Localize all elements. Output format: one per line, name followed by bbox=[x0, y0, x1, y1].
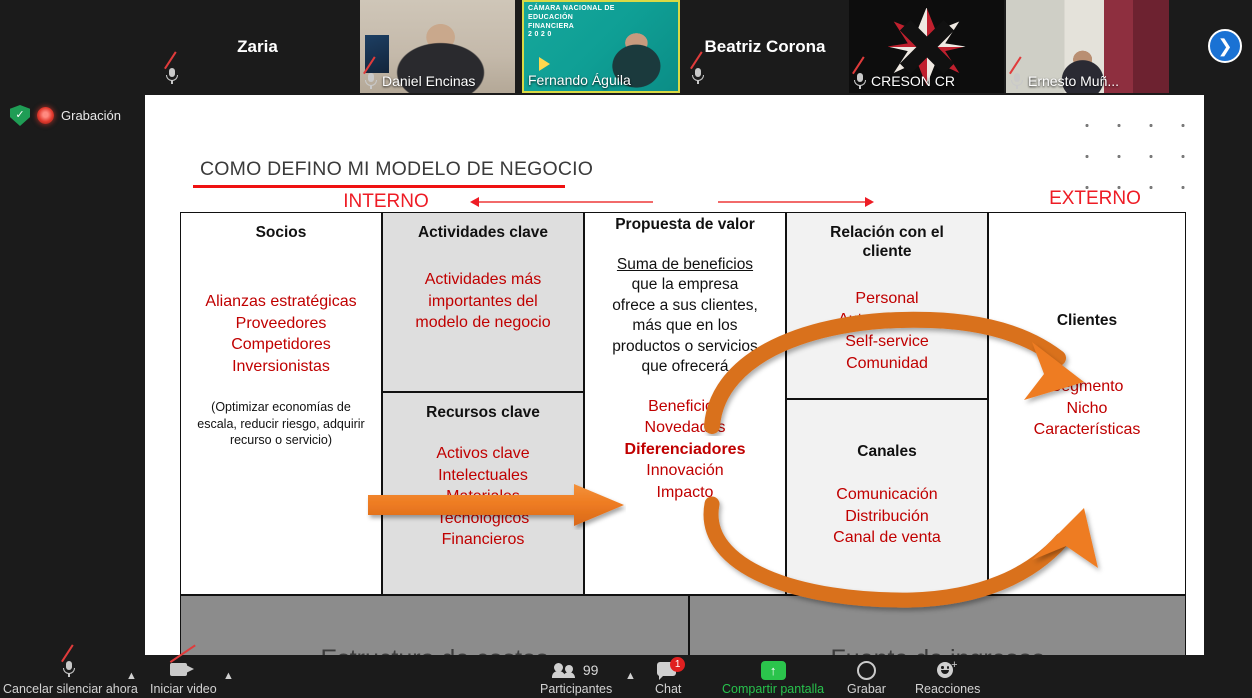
recording-sidebar: ✓ Grabación bbox=[0, 95, 145, 655]
clientes-item-1: Nicho bbox=[1034, 398, 1141, 420]
toolbar-participants-label: Participantes bbox=[540, 682, 612, 696]
cell-heading-propuesta-de-valor: Propuesta de valor bbox=[615, 216, 755, 235]
arrow-left-icon bbox=[478, 201, 653, 203]
clientes-item-2: Características bbox=[1034, 419, 1141, 441]
canvas-cell-recursos-clave[interactable]: Recursos clave Activos clave Intelectual… bbox=[382, 392, 584, 595]
participants-options-caret-icon[interactable]: ▲ bbox=[625, 670, 636, 682]
actividades-item-0: Actividades más bbox=[415, 269, 550, 291]
propuesta-item-0: Beneficios bbox=[625, 396, 746, 418]
participant-tile-ernesto-munoz[interactable]: Ernesto Muñ... bbox=[1006, 0, 1169, 93]
triangle-icon bbox=[539, 57, 550, 71]
canvas-cell-estructura-de-costos[interactable]: Estructura de costos bbox=[180, 595, 689, 655]
shared-screen-slide[interactable]: COMO DEFINO MI MODELO DE NEGOCIO INTERNO… bbox=[145, 95, 1204, 655]
canvas-cell-propuesta-de-valor[interactable]: Propuesta de valor Suma de beneficios qu… bbox=[584, 212, 786, 595]
zoom-meeting-window: Zaria Daniel Encinas CÁMARA NACIONAL DEE… bbox=[0, 0, 1252, 698]
chat-bubble-icon: 1 bbox=[657, 662, 679, 679]
propuesta-definition-underlined: Suma de beneficios bbox=[612, 255, 758, 275]
axis-label-interno: INTERNO bbox=[321, 191, 451, 213]
socios-item-2: Competidores bbox=[205, 334, 356, 356]
participant-nameplate: Daniel Encinas bbox=[360, 71, 481, 93]
recursos-item-3: Tecnológicos bbox=[436, 508, 529, 530]
canales-item-1: Distribución bbox=[833, 506, 941, 528]
propuesta-definition-3: más que en los bbox=[612, 316, 758, 336]
participant-name-fernando-aguila: Fernando Águila bbox=[528, 72, 631, 88]
canvas-cell-actividades-clave[interactable]: Actividades clave Actividades más import… bbox=[382, 212, 584, 392]
recording-indicator[interactable]: ✓ Grabación bbox=[0, 95, 145, 126]
canales-item-0: Comunicación bbox=[833, 484, 941, 506]
smiley-plus-icon: + bbox=[937, 660, 958, 680]
toolbar-reactions-label: Reacciones bbox=[915, 682, 980, 696]
toolbar-share-screen-button[interactable]: ↑ Compartir pantalla bbox=[722, 660, 824, 696]
mic-muted-icon bbox=[364, 72, 378, 90]
toolbar-record-label: Grabar bbox=[847, 682, 886, 696]
mic-muted-icon bbox=[691, 67, 705, 90]
cell-heading-clientes: Clientes bbox=[1057, 312, 1117, 331]
participant-name-zaria: Zaria bbox=[160, 37, 355, 57]
toolbar-chat-label: Chat bbox=[655, 682, 681, 696]
socios-note: (Optimizar economías de escala, reducir … bbox=[193, 399, 369, 448]
participants-count: 99 bbox=[583, 662, 599, 678]
mic-muted-icon bbox=[1010, 72, 1024, 90]
shield-check-icon: ✓ bbox=[10, 105, 30, 126]
actividades-item-1: importantes del bbox=[415, 291, 550, 313]
recursos-item-2: Materiales bbox=[436, 486, 529, 508]
socios-item-3: Inversionistas bbox=[205, 356, 356, 378]
shared-slide-header-text: CÁMARA NACIONAL DEEDUCACIÓNFINANCIERA2 0… bbox=[528, 5, 674, 40]
arrow-right-icon bbox=[718, 201, 866, 203]
meeting-toolbar: Cancelar silenciar ahora ▲ Iniciar video… bbox=[0, 655, 1252, 698]
mic-muted-icon bbox=[165, 67, 179, 90]
actividades-item-2: modelo de negocio bbox=[415, 312, 550, 334]
mute-options-caret-icon[interactable]: ▲ bbox=[126, 670, 137, 682]
propuesta-item-2: Diferenciadores bbox=[625, 439, 746, 461]
toolbar-mute-button[interactable]: Cancelar silenciar ahora bbox=[3, 660, 138, 696]
propuesta-item-4: Impacto bbox=[625, 482, 746, 504]
relacion-item-1: Automatizado bbox=[838, 309, 936, 331]
relacion-item-0: Personal bbox=[838, 288, 936, 310]
recursos-item-1: Intelectuales bbox=[436, 465, 529, 487]
propuesta-definition-2: ofrece a sus clientes, bbox=[612, 296, 758, 316]
participant-name-creson-cr: CRESON CR bbox=[871, 73, 955, 89]
participant-name-daniel-encinas: Daniel Encinas bbox=[382, 73, 475, 89]
participant-nameplate: Ernesto Muñ... bbox=[1006, 71, 1125, 93]
participant-tile-daniel-encinas[interactable]: Daniel Encinas bbox=[360, 0, 515, 93]
participant-name-ernesto-munoz: Ernesto Muñ... bbox=[1028, 73, 1119, 89]
participant-nameplate: Fernando Águila bbox=[524, 71, 637, 91]
socios-item-0: Alianzas estratégicas bbox=[205, 291, 356, 313]
toolbar-chat-button[interactable]: 1 Chat bbox=[655, 660, 681, 696]
toolbar-share-label: Compartir pantalla bbox=[722, 682, 824, 696]
propuesta-definition-5: que ofrecerá bbox=[612, 357, 758, 377]
people-icon bbox=[554, 663, 578, 678]
next-page-button[interactable]: ❯ bbox=[1208, 29, 1242, 63]
canvas-cell-relacion-con-el-cliente[interactable]: Relación con el cliente Personal Automat… bbox=[786, 212, 988, 399]
camera-off-icon bbox=[170, 660, 196, 680]
clientes-item-0: Segmento bbox=[1034, 376, 1141, 398]
cell-heading-estructura-de-costos: Estructura de costos bbox=[321, 645, 549, 655]
participant-tile-fernando-aguila[interactable]: CÁMARA NACIONAL DEEDUCACIÓNFINANCIERA2 0… bbox=[522, 0, 680, 93]
chevron-right-icon: ❯ bbox=[1217, 37, 1232, 55]
slide-title: COMO DEFINO MI MODELO DE NEGOCIO bbox=[200, 158, 593, 181]
cell-heading-socios: Socios bbox=[256, 224, 307, 243]
recursos-item-0: Activos clave bbox=[436, 443, 529, 465]
mic-muted-icon bbox=[853, 72, 867, 90]
cell-heading-recursos-clave: Recursos clave bbox=[426, 404, 540, 423]
canvas-cell-socios[interactable]: Socios Alianzas estratégicas Proveedores… bbox=[180, 212, 382, 595]
socios-item-1: Proveedores bbox=[205, 313, 356, 335]
participants-icon-group: 99 bbox=[554, 660, 599, 680]
cell-heading-canales: Canales bbox=[857, 443, 916, 462]
toolbar-reactions-button[interactable]: + Reacciones bbox=[915, 660, 980, 696]
propuesta-definition-4: productos o servicios bbox=[612, 337, 758, 357]
share-screen-up-arrow-icon: ↑ bbox=[761, 660, 786, 680]
participant-tile-zaria[interactable]: Zaria bbox=[160, 0, 355, 93]
toolbar-participants-button[interactable]: 99 Participantes bbox=[540, 660, 612, 696]
relacion-item-2: Self-service bbox=[838, 331, 936, 353]
recursos-item-4: Financieros bbox=[436, 529, 529, 551]
canvas-cell-canales[interactable]: Canales Comunicación Distribución Canal … bbox=[786, 399, 988, 595]
participant-name-beatriz-corona: Beatriz Corona bbox=[686, 37, 844, 57]
recording-label: Grabación bbox=[61, 108, 121, 123]
toolbar-video-button[interactable]: Iniciar video bbox=[150, 660, 217, 696]
record-circle-icon bbox=[857, 660, 876, 680]
slide-right-gutter bbox=[1204, 95, 1252, 655]
business-model-canvas: Socios Alianzas estratégicas Proveedores… bbox=[180, 212, 1186, 595]
cell-heading-actividades-clave: Actividades clave bbox=[418, 224, 548, 243]
cell-heading-fuente-de-ingresos: Fuente de ingresos bbox=[830, 645, 1044, 655]
cell-heading-relacion-con-el-cliente: Relación con el cliente bbox=[807, 224, 967, 262]
canvas-cell-clientes[interactable]: Clientes Segmento Nicho Características bbox=[988, 212, 1186, 595]
participant-tile-beatriz-corona[interactable]: Beatriz Corona bbox=[686, 0, 844, 93]
propuesta-item-3: Innovación bbox=[625, 460, 746, 482]
participant-tile-creson-cr[interactable]: CRESON CR bbox=[849, 0, 1004, 93]
title-underline bbox=[193, 185, 565, 188]
propuesta-item-1: Novedades bbox=[625, 417, 746, 439]
toolbar-video-label: Iniciar video bbox=[150, 682, 217, 696]
chat-unread-badge: 1 bbox=[670, 657, 685, 672]
propuesta-definition-1: que la empresa bbox=[612, 275, 758, 295]
chat-icon-group: 1 bbox=[657, 660, 679, 680]
axis-label-externo: EXTERNO bbox=[1030, 188, 1160, 210]
microphone-muted-icon bbox=[62, 660, 78, 680]
video-options-caret-icon[interactable]: ▲ bbox=[223, 670, 234, 682]
toolbar-record-button[interactable]: Grabar bbox=[847, 660, 886, 696]
canales-item-2: Canal de venta bbox=[833, 527, 941, 549]
participant-nameplate: CRESON CR bbox=[849, 71, 961, 93]
relacion-item-3: Comunidad bbox=[838, 353, 936, 375]
dot-grid-decoration-strip bbox=[1187, 104, 1204, 424]
participant-filmstrip: Zaria Daniel Encinas CÁMARA NACIONAL DEE… bbox=[0, 0, 1252, 95]
canvas-cell-fuente-de-ingresos[interactable]: Fuente de ingresos bbox=[689, 595, 1186, 655]
toolbar-mute-label: Cancelar silenciar ahora bbox=[3, 682, 138, 696]
record-dot-icon bbox=[37, 107, 54, 124]
